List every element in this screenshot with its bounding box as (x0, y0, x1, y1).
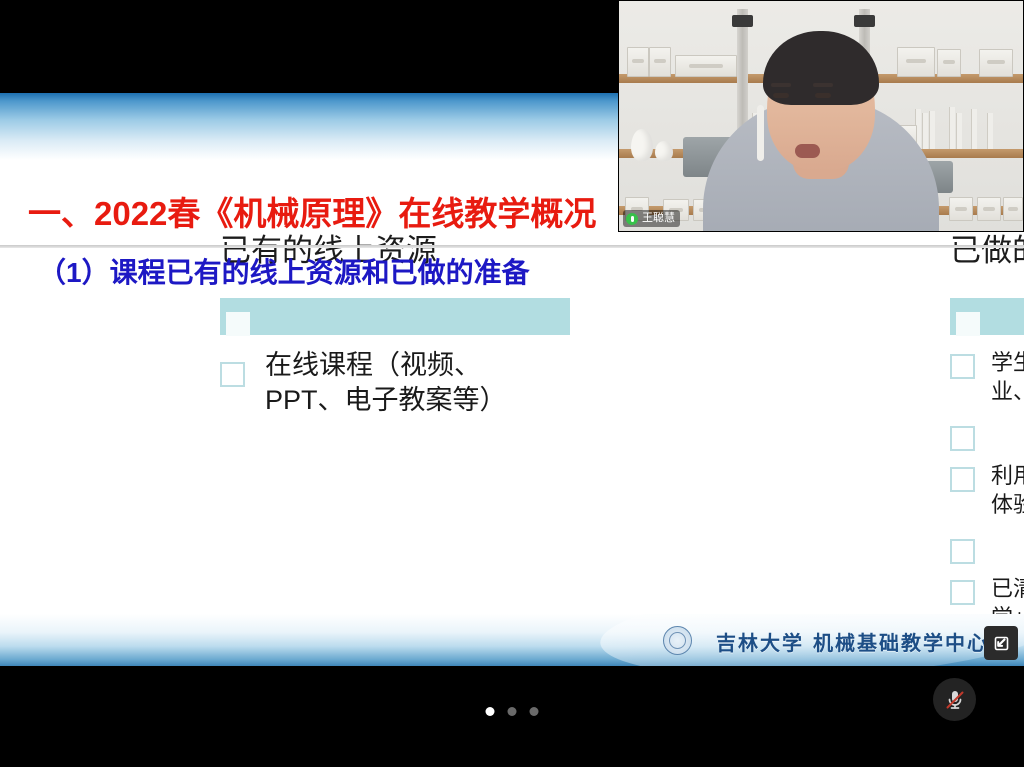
shelf-box (977, 197, 1001, 221)
person-eyebrow (813, 83, 833, 87)
checkbox-icon (950, 467, 975, 492)
slide-footer-band: 吉林大学 机械基础教学中心 (0, 614, 1024, 666)
column-accent-bar (950, 298, 1024, 335)
page-dot-1[interactable] (486, 707, 495, 716)
participant-video-tile[interactable]: 王聪慧 (618, 0, 1024, 232)
exit-fullscreen-button[interactable] (984, 626, 1018, 660)
column-heading: 已做的准备 (950, 235, 1024, 266)
shelf-box (937, 49, 961, 77)
slide-subtitle: （1）课程已有的线上资源和已做的准备 (38, 259, 530, 287)
shelf-book (987, 113, 993, 149)
person-eye (773, 93, 789, 98)
earphone-cable (757, 105, 764, 161)
page-indicator[interactable] (486, 707, 539, 716)
page-dot-3[interactable] (530, 707, 539, 716)
shelf-book (922, 113, 928, 149)
shelf-box (627, 47, 649, 77)
decorative-vase (655, 141, 673, 161)
shelf-book (971, 109, 977, 149)
shelf-book (949, 107, 955, 149)
shelf-box (979, 49, 1013, 77)
person-eyebrow (771, 83, 791, 87)
person-mouth (795, 144, 820, 158)
checkbox-icon (950, 580, 975, 605)
list-item-label (991, 533, 1024, 559)
checkbox-icon (220, 362, 245, 387)
video-scene (619, 1, 1023, 231)
list-item (950, 420, 1024, 451)
shelf-book (929, 111, 935, 149)
bullet-list: 学生已清楚课程要求（作 业、测验、任务等） 利用学习通课堂互动已有 体验 已清楚… (950, 348, 1024, 646)
page-dot-2[interactable] (508, 707, 517, 716)
bottom-control-bar (0, 666, 1024, 767)
bullet-list: 在线课程（视频、 PPT、电子教案等） (220, 348, 572, 418)
list-item-label: 学生已清楚课程要求（作 业、测验、任务等） (991, 348, 1024, 406)
mic-toggle-button[interactable] (933, 678, 976, 721)
exit-fullscreen-icon (991, 633, 1011, 653)
accent-bar-square (956, 312, 980, 336)
list-item: 学生已清楚课程要求（作 业、测验、任务等） (950, 348, 1024, 406)
footer-organization-label: 吉林大学 机械基础教学中心 (716, 627, 989, 656)
column-accent-bar (220, 298, 570, 335)
shelf-box (675, 55, 737, 77)
list-item (950, 533, 1024, 564)
mic-muted-icon (943, 688, 967, 712)
checkbox-icon (950, 354, 975, 379)
shelf-book (956, 113, 962, 149)
list-item-label: 在线课程（视频、 PPT、电子教案等） (265, 348, 572, 418)
university-seal-icon (663, 626, 692, 655)
mic-on-icon (626, 213, 638, 225)
shelf-box (897, 47, 935, 77)
shelf-box (1003, 197, 1023, 221)
list-item: 在线课程（视频、 PPT、电子教案等） (220, 348, 572, 418)
shelf-box (649, 47, 671, 77)
list-item: 利用学习通课堂互动已有 体验 (950, 461, 1024, 519)
decorative-vase (631, 129, 653, 161)
slide-title: 一、2022春《机械原理》在线教学概况 (28, 197, 596, 230)
list-item-label: 利用学习通课堂互动已有 体验 (991, 461, 1024, 519)
checkbox-icon (950, 539, 975, 564)
participant-name-chip: 王聪慧 (623, 210, 680, 227)
checkbox-icon (950, 426, 975, 451)
title-divider (0, 245, 1024, 248)
shelf-box (949, 197, 973, 221)
meeting-screen-share-view: 一、2022春《机械原理》在线教学概况 （1）课程已有的线上资源和已做的准备 已… (0, 0, 1024, 767)
accent-bar-square (226, 312, 250, 336)
person-eye (815, 93, 831, 98)
list-item-label (991, 420, 1024, 446)
participant-name-label: 王聪慧 (642, 213, 675, 224)
